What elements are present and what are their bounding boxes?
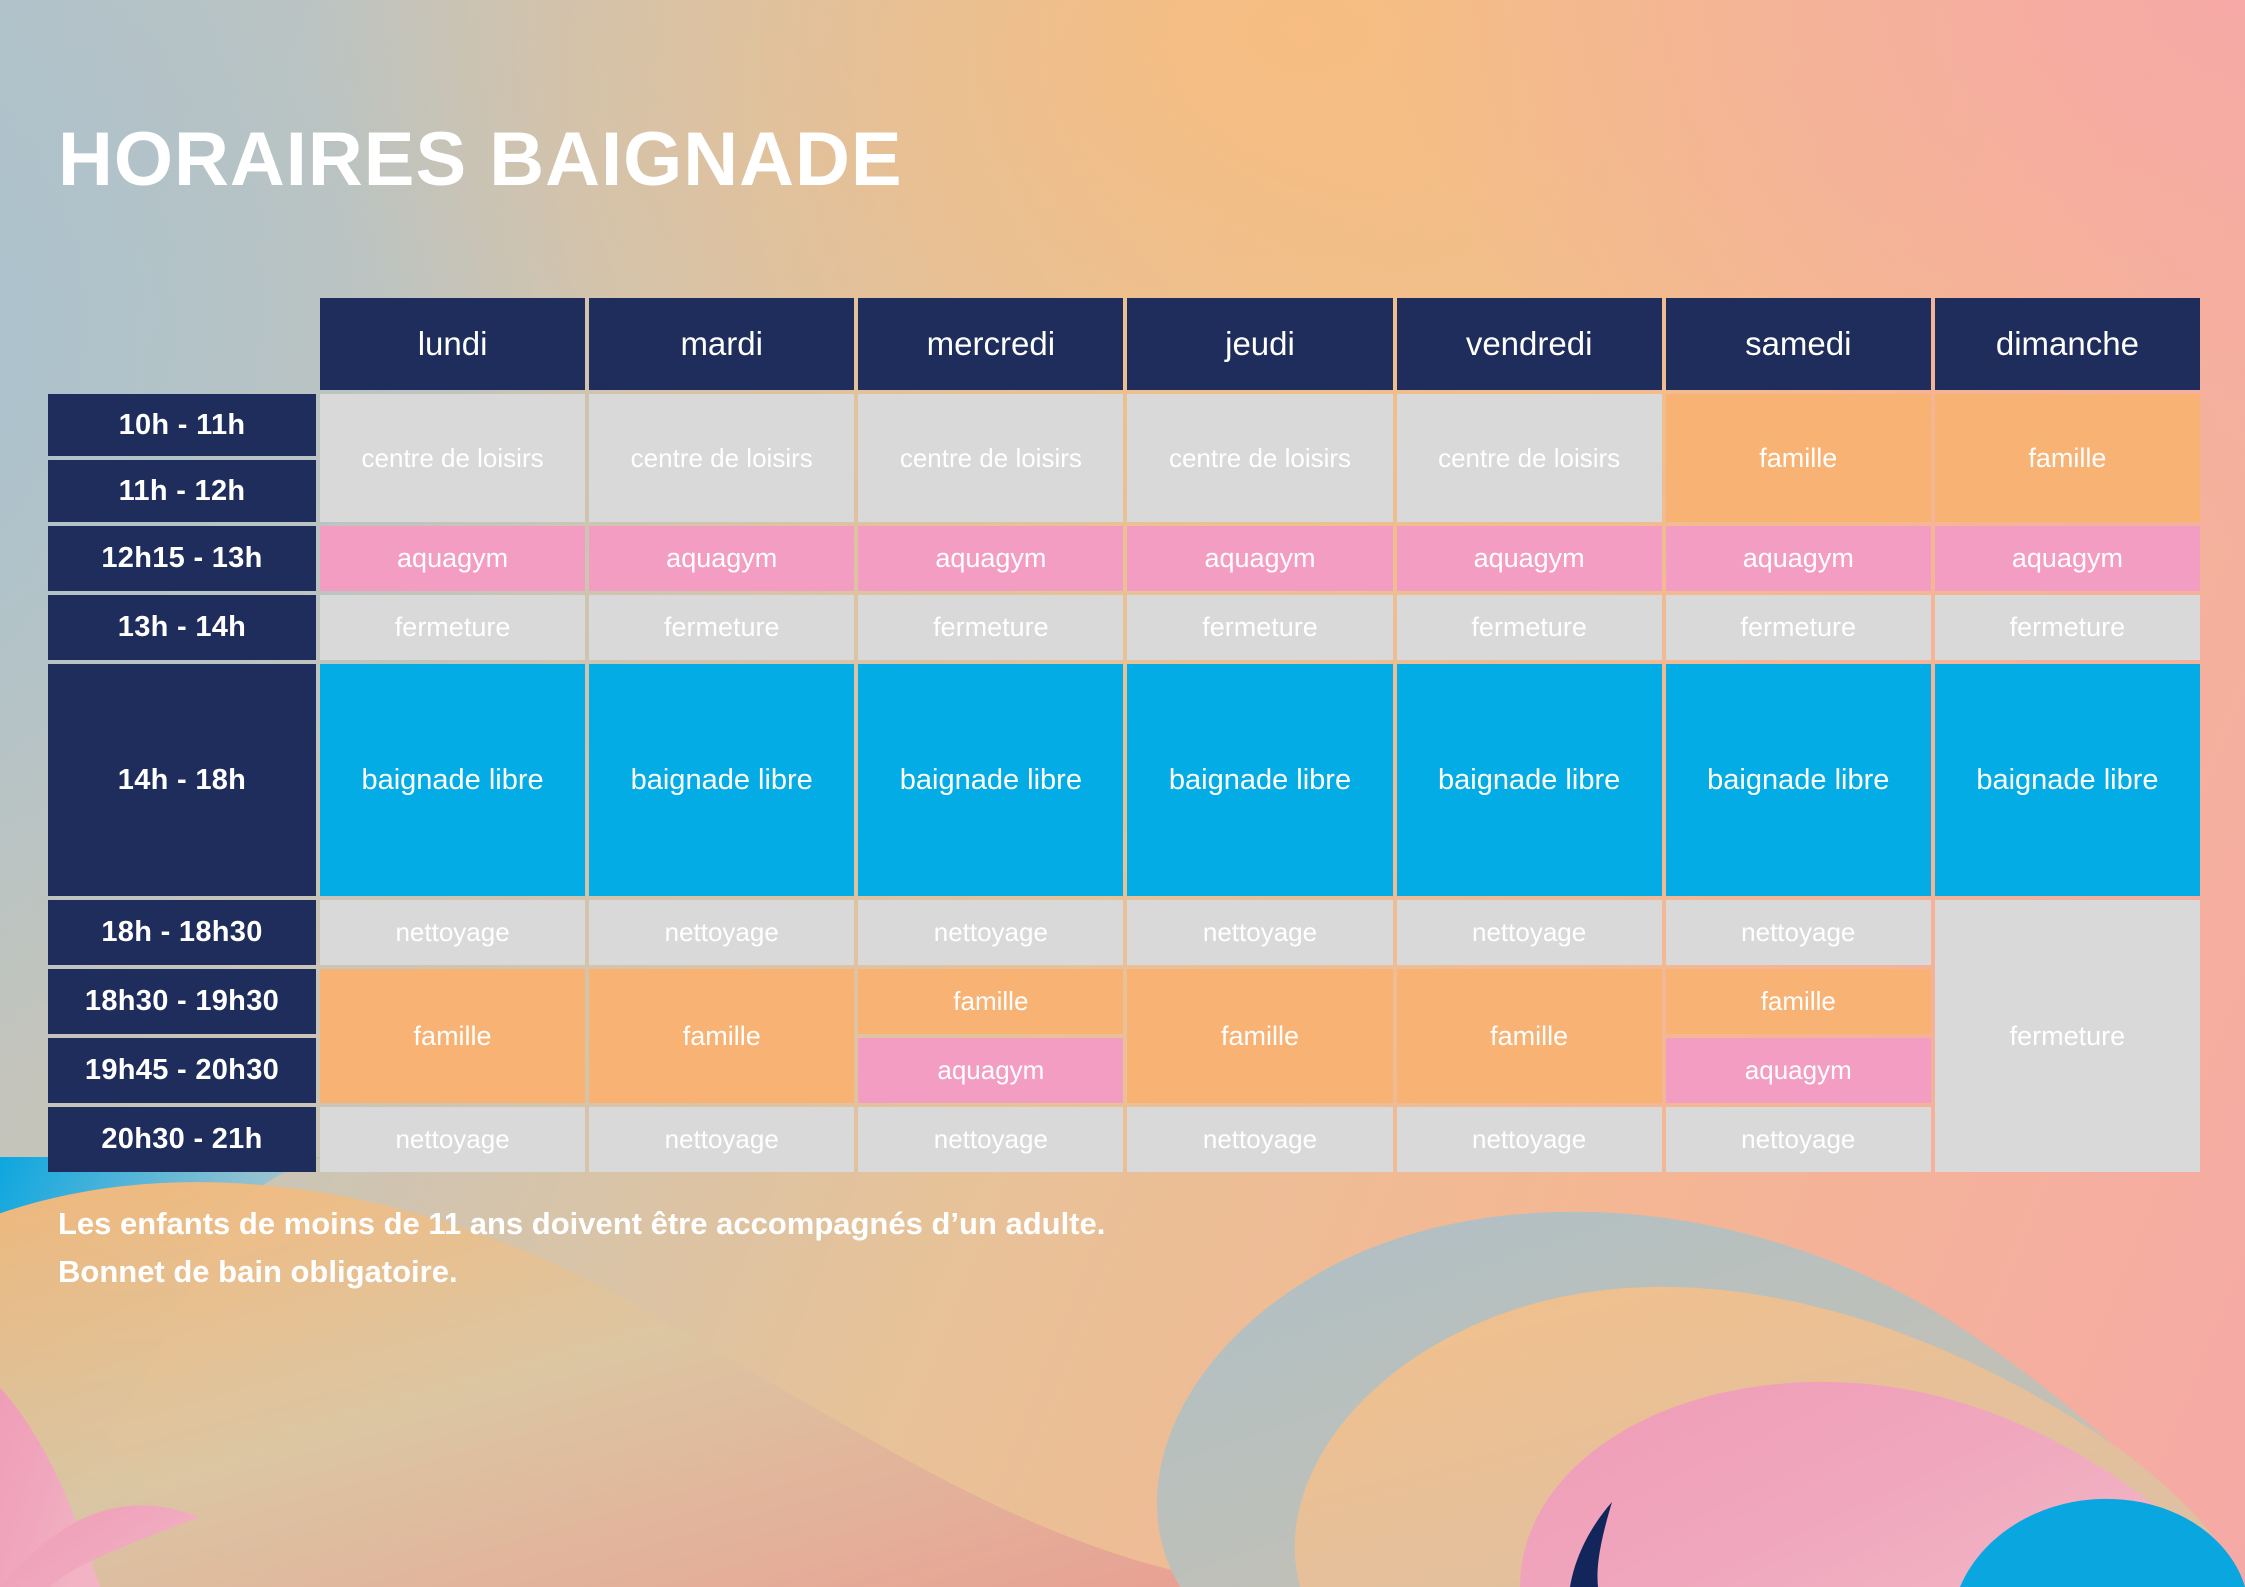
cell-mercredi-12h15: aquagym (858, 526, 1123, 591)
cell-jeudi-13h: fermeture (1127, 595, 1392, 660)
day-header-samedi: samedi (1666, 298, 1931, 390)
cell-lundi-13h: fermeture (320, 595, 585, 660)
cell-samedi-18h: nettoyage (1666, 900, 1931, 965)
time-label-18h-18h30: 18h - 18h30 (48, 900, 316, 965)
cell-dimanche-10h-12h: famille (1935, 394, 2200, 522)
cell-jeudi-10h-12h: centre de loisirs (1127, 394, 1392, 522)
cell-jeudi-14h: baignade libre (1127, 664, 1392, 896)
footer-note-line-2: Bonnet de bain obligatoire. (58, 1248, 1105, 1296)
cell-vendredi-13h: fermeture (1397, 595, 1662, 660)
cell-vendredi-soir-famille: famille (1397, 969, 1662, 1103)
cell-samedi-19h45-aquagym: aquagym (1666, 1038, 1931, 1103)
cell-samedi-18h30-famille: famille (1666, 969, 1931, 1034)
page-title: HORAIRES BAIGNADE (58, 122, 903, 198)
cell-lundi-10h-12h: centre de loisirs (320, 394, 585, 522)
day-header-vendredi: vendredi (1397, 298, 1662, 390)
cell-mardi-18h: nettoyage (589, 900, 854, 965)
cell-vendredi-14h: baignade libre (1397, 664, 1662, 896)
cell-mercredi-19h45-aquagym: aquagym (858, 1038, 1123, 1103)
cell-samedi-12h15: aquagym (1666, 526, 1931, 591)
day-header-jeudi: jeudi (1127, 298, 1392, 390)
cell-dimanche-soir-fermeture: fermeture (1935, 900, 2200, 1172)
cell-mercredi-18h30-famille: famille (858, 969, 1123, 1034)
table-corner (48, 298, 316, 390)
cell-lundi-soir-famille: famille (320, 969, 585, 1103)
time-label-12h15-13h: 12h15 - 13h (48, 526, 316, 591)
cell-jeudi-20h30: nettoyage (1127, 1107, 1392, 1172)
cell-vendredi-18h: nettoyage (1397, 900, 1662, 965)
cell-mardi-13h: fermeture (589, 595, 854, 660)
cell-samedi-10h-12h: famille (1666, 394, 1931, 522)
cell-vendredi-20h30: nettoyage (1397, 1107, 1662, 1172)
time-label-13h-14h: 13h - 14h (48, 595, 316, 660)
time-label-20h30-21h: 20h30 - 21h (48, 1107, 316, 1172)
cell-samedi-14h: baignade libre (1666, 664, 1931, 896)
cell-samedi-20h30: nettoyage (1666, 1107, 1931, 1172)
cell-dimanche-12h15: aquagym (1935, 526, 2200, 591)
cell-mardi-20h30: nettoyage (589, 1107, 854, 1172)
cell-mercredi-18h: nettoyage (858, 900, 1123, 965)
day-header-dimanche: dimanche (1935, 298, 2200, 390)
cell-mardi-10h-12h: centre de loisirs (589, 394, 854, 522)
cell-jeudi-12h15: aquagym (1127, 526, 1392, 591)
cell-lundi-18h: nettoyage (320, 900, 585, 965)
cell-jeudi-18h: nettoyage (1127, 900, 1392, 965)
cell-mercredi-13h: fermeture (858, 595, 1123, 660)
cell-mercredi-14h: baignade libre (858, 664, 1123, 896)
cell-mardi-soir-famille: famille (589, 969, 854, 1103)
footer-note-line-1: Les enfants de moins de 11 ans doivent ê… (58, 1200, 1105, 1248)
cell-mercredi-10h-12h: centre de loisirs (858, 394, 1123, 522)
cell-dimanche-14h: baignade libre (1935, 664, 2200, 896)
day-header-mercredi: mercredi (858, 298, 1123, 390)
cell-mardi-14h: baignade libre (589, 664, 854, 896)
day-header-lundi: lundi (320, 298, 585, 390)
cell-lundi-12h15: aquagym (320, 526, 585, 591)
cell-samedi-13h: fermeture (1666, 595, 1931, 660)
time-label-18h30-19h30: 18h30 - 19h30 (48, 969, 316, 1034)
cell-dimanche-13h: fermeture (1935, 595, 2200, 660)
time-label-10h-11h: 10h - 11h (48, 394, 316, 456)
footer-notes: Les enfants de moins de 11 ans doivent ê… (58, 1200, 1105, 1296)
cell-vendredi-10h-12h: centre de loisirs (1397, 394, 1662, 522)
schedule-table: lundi mardi mercredi jeudi vendredi same… (48, 298, 2200, 1142)
time-label-19h45-20h30: 19h45 - 20h30 (48, 1038, 316, 1103)
day-header-mardi: mardi (589, 298, 854, 390)
cell-mardi-12h15: aquagym (589, 526, 854, 591)
cell-lundi-14h: baignade libre (320, 664, 585, 896)
cell-jeudi-soir-famille: famille (1127, 969, 1392, 1103)
cell-mercredi-20h30: nettoyage (858, 1107, 1123, 1172)
cell-lundi-20h30: nettoyage (320, 1107, 585, 1172)
time-label-14h-18h: 14h - 18h (48, 664, 316, 896)
cell-vendredi-12h15: aquagym (1397, 526, 1662, 591)
time-label-11h-12h: 11h - 12h (48, 460, 316, 522)
